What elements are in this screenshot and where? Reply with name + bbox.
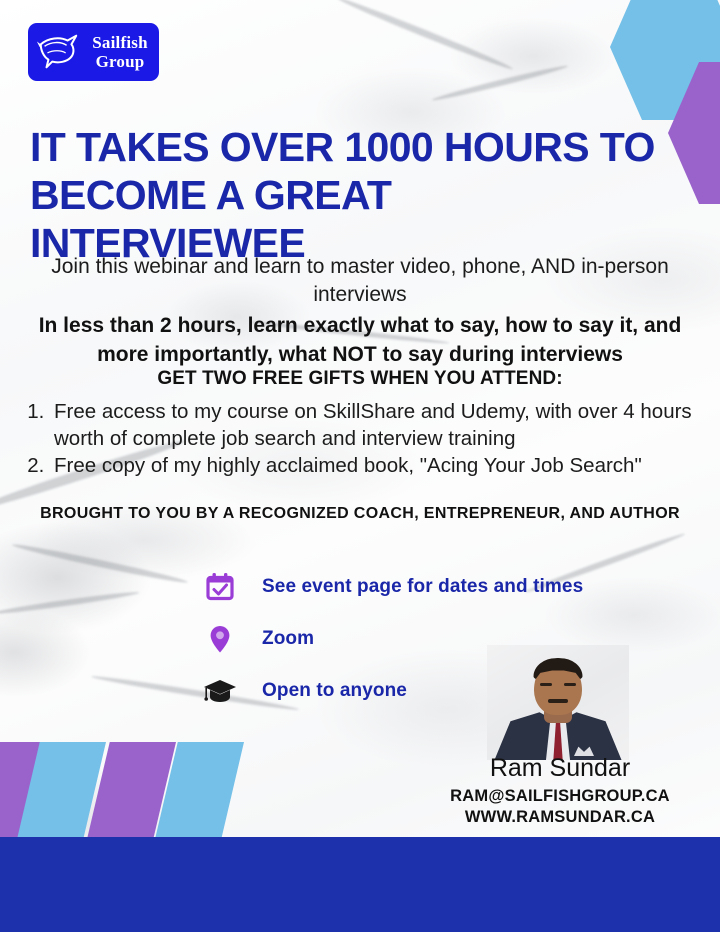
portrait-moustache (548, 699, 568, 703)
brought-by-text: BROUGHT TO YOU BY A RECOGNIZED COACH, EN… (22, 504, 698, 524)
sailfish-group-logo[interactable]: Sailfish Group (28, 23, 159, 81)
decor-hexagon-row-bottom (0, 742, 260, 852)
page-title: IT TAKES OVER 1000 HOURS TO BECOME A GRE… (30, 123, 670, 267)
graduation-cap-icon (200, 671, 240, 711)
gifts-title: GET TWO FREE GIFTS WHEN YOU ATTEND: (22, 367, 698, 391)
detail-label-audience: Open to anyone (262, 680, 407, 702)
speaker-website[interactable]: WWW.RAMSUNDAR.CA (420, 807, 700, 828)
intro-text: Join this webinar and learn to master vi… (22, 253, 698, 309)
gifts-list: Free access to my course on SkillShare a… (24, 398, 718, 479)
speaker-portrait (487, 645, 629, 760)
speaker-contact: RAM@SAILFISHGROUP.CA WWW.RAMSUNDAR.CA (420, 786, 700, 828)
logo-wordmark: Sailfish Group (81, 33, 159, 71)
portrait-brow-right (564, 683, 576, 686)
speaker-name: Ram Sundar (420, 753, 700, 783)
calendar-check-icon (200, 567, 240, 607)
subhead-text: In less than 2 hours, learn exactly what… (14, 311, 706, 369)
detail-label-location: Zoom (262, 628, 314, 650)
speaker-email[interactable]: RAM@SAILFISHGROUP.CA (420, 786, 700, 807)
portrait-brow-left (540, 683, 552, 686)
detail-row-date: See event page for dates and times (200, 561, 620, 613)
list-item: Free access to my course on SkillShare a… (50, 398, 718, 452)
list-item: Free copy of my highly acclaimed book, "… (50, 452, 718, 479)
webinar-flyer: Sailfish Group IT TAKES OVER 1000 HOURS … (0, 0, 720, 932)
sailfish-icon (35, 29, 81, 75)
logo-line-1: Sailfish (92, 33, 147, 52)
detail-label-date: See event page for dates and times (262, 576, 583, 598)
logo-line-2: Group (96, 52, 145, 71)
location-pin-icon (200, 619, 240, 659)
footer-bar (0, 837, 720, 932)
